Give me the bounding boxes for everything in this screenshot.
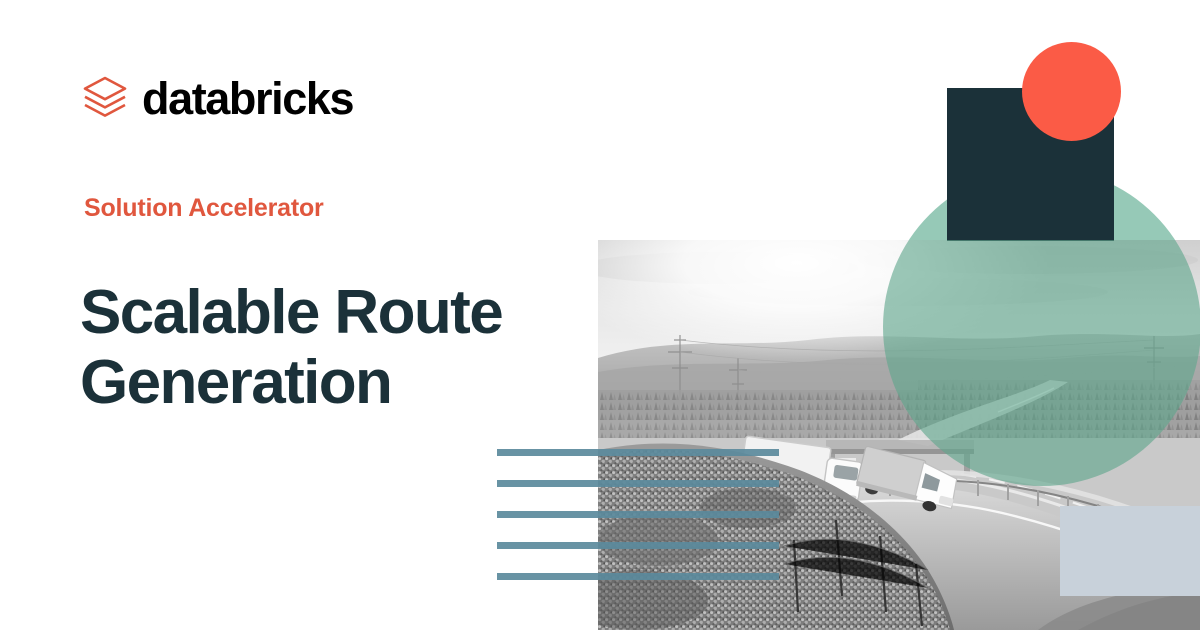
line-bar — [497, 449, 779, 456]
databricks-wordmark: databricks — [142, 76, 353, 121]
line-bar — [497, 542, 779, 549]
line-bar — [497, 511, 779, 518]
databricks-stacked-layers-logo-icon — [82, 74, 128, 122]
page-title: Scalable Route Generation — [80, 278, 550, 418]
pale-rectangle-shape — [1060, 506, 1200, 596]
line-bars-group — [497, 449, 779, 589]
headline-line-2: Generation — [80, 348, 550, 418]
eyebrow-label: Solution Accelerator — [84, 193, 324, 223]
headline-line-1: Scalable Route — [80, 278, 502, 347]
coral-circle-shape — [1022, 42, 1121, 141]
databricks-logo: databricks — [82, 74, 353, 122]
line-bar — [497, 573, 779, 580]
solution-accelerator-banner: databricks Solution Accelerator Scalable… — [0, 0, 1200, 630]
line-bar — [497, 480, 779, 487]
